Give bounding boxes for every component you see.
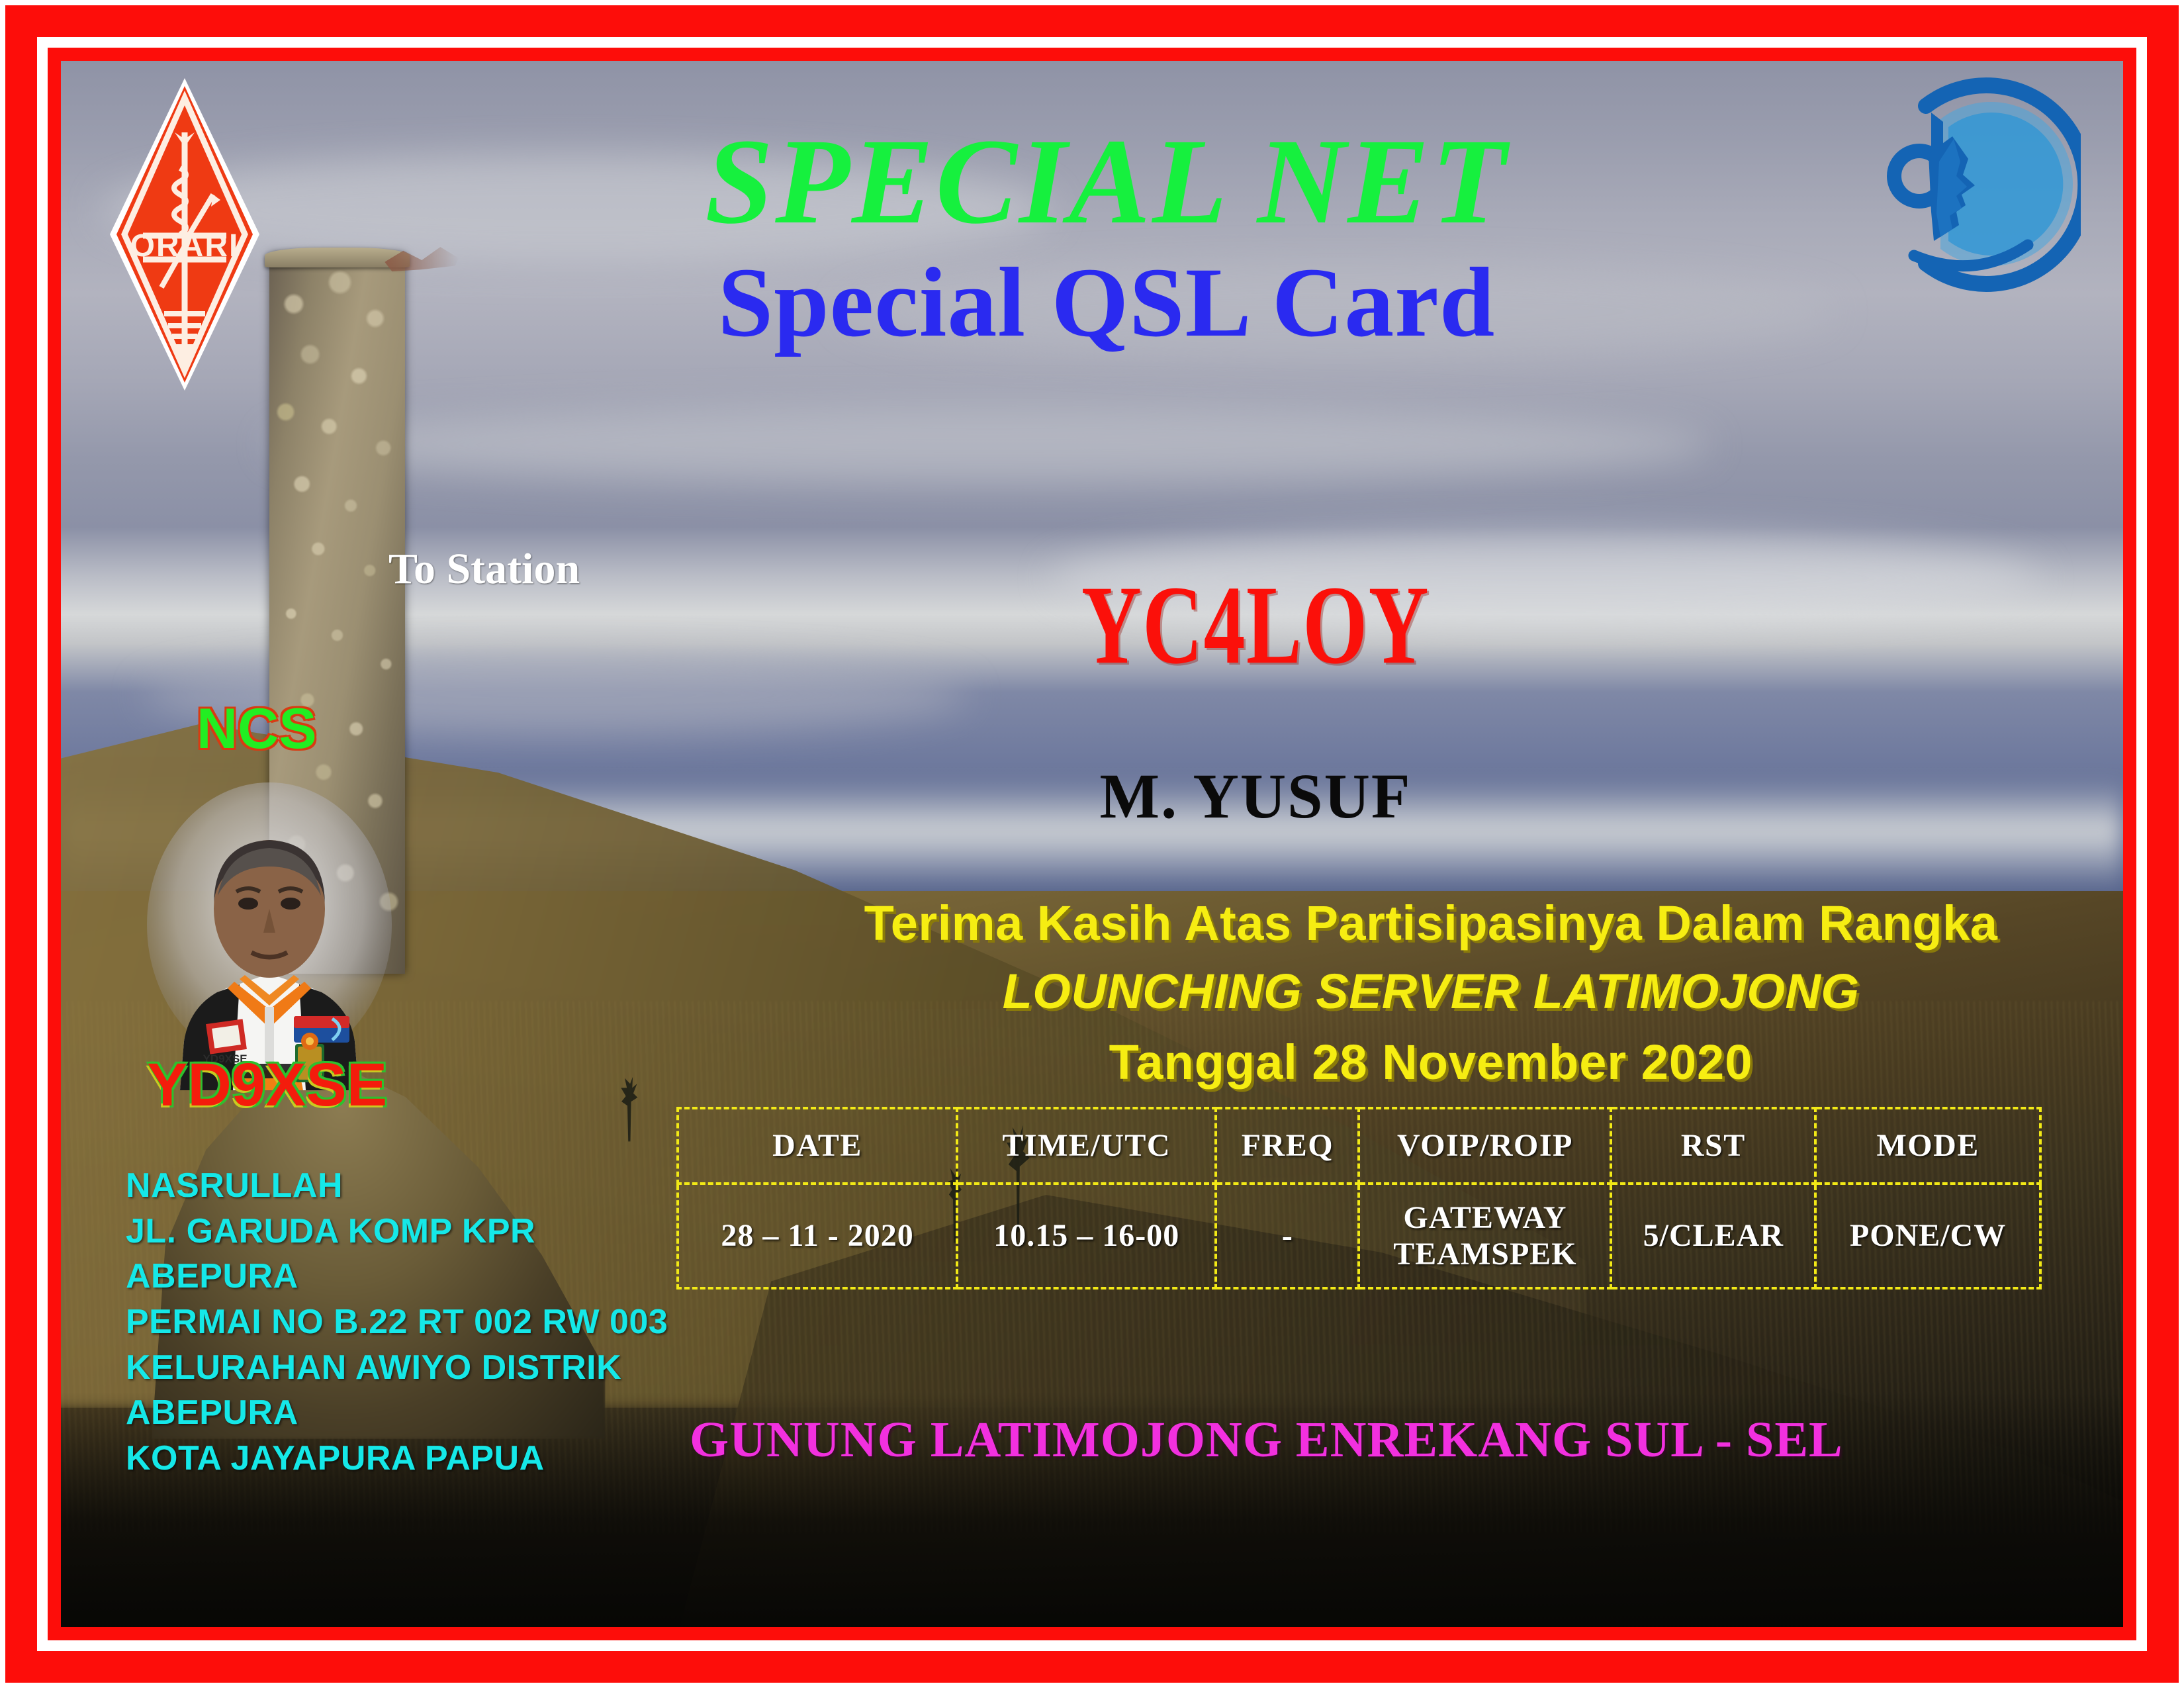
orari-logo-text: ORARI bbox=[130, 228, 240, 263]
subtitle: Special QSL Card bbox=[524, 253, 1689, 352]
web-address: Address : amatir.latimojong.com bbox=[1305, 1626, 2065, 1627]
column-header-date: DATE bbox=[678, 1108, 957, 1184]
mailing-address: NASRULLAH JL. GARUDA KOMP KPR ABEPURA PE… bbox=[126, 1163, 668, 1481]
address-line: NASRULLAH bbox=[126, 1163, 668, 1209]
station-callsign: YC4LOY bbox=[1048, 561, 1464, 690]
address-line: ABEPURA bbox=[126, 1254, 668, 1299]
address-line: PERMAI NO B.22 RT 002 RW 003 bbox=[126, 1299, 668, 1345]
ncs-callsign: YD9XSE bbox=[147, 1051, 387, 1120]
address-line: KOTA JAYAPURA PAPUA bbox=[126, 1436, 668, 1481]
column-header-mode: MODE bbox=[1815, 1108, 2040, 1184]
cell-freq: - bbox=[1216, 1184, 1359, 1288]
address-line: ABEPURA bbox=[126, 1390, 668, 1436]
column-header-rst: RST bbox=[1611, 1108, 1815, 1184]
background-photograph: ORARI bbox=[61, 61, 2123, 1627]
page-title: SPECIAL NET bbox=[524, 120, 1689, 243]
to-station-label: To Station bbox=[388, 544, 580, 594]
address-line: KELURAHAN AWIYO DISTRIK bbox=[126, 1345, 668, 1391]
table-header-row: DATE TIME/UTC FREQ VOIP/ROIP RST MODE bbox=[678, 1108, 2040, 1184]
address-line: JL. GARUDA KOMP KPR bbox=[126, 1209, 668, 1254]
location-caption: GUNUNG LATIMOJONG ENREKANG SUL - SEL bbox=[690, 1411, 1843, 1469]
cell-voip: GATEWAY TEAMSPEK bbox=[1359, 1184, 1611, 1288]
headset-profile-logo bbox=[1862, 75, 2081, 294]
thanks-line-3: Tanggal 28 November 2020 bbox=[782, 1034, 2079, 1090]
cell-rst: 5/CLEAR bbox=[1611, 1184, 1815, 1288]
column-header-voip: VOIP/ROIP bbox=[1359, 1108, 1611, 1184]
table-row: 28 – 11 - 2020 10.15 – 16-00 - GATEWAY T… bbox=[678, 1184, 2040, 1288]
qsl-card: ORARI bbox=[0, 0, 2184, 1688]
cell-time: 10.15 – 16-00 bbox=[957, 1184, 1216, 1288]
slogan-text: "AMATIR RADIO ADALAH PROGRESIVE" bbox=[140, 1626, 1159, 1627]
thanks-line-1: Terima Kasih Atas Partisipasinya Dalam R… bbox=[782, 895, 2079, 951]
cell-date: 28 – 11 - 2020 bbox=[678, 1184, 957, 1288]
ncs-label: NCS bbox=[197, 696, 317, 762]
thanks-line-2: LOUNCHING SERVER LATIMOJONG bbox=[782, 963, 2079, 1019]
ncs-operator-photo: YD9XSE bbox=[140, 779, 398, 1090]
operator-name: M. YUSUF bbox=[974, 759, 1537, 833]
cell-mode: PONE/CW bbox=[1815, 1184, 2040, 1288]
orari-logo: ORARI bbox=[95, 69, 274, 400]
column-header-time: TIME/UTC bbox=[957, 1108, 1216, 1184]
column-header-freq: FREQ bbox=[1216, 1108, 1359, 1184]
qso-log-table: DATE TIME/UTC FREQ VOIP/ROIP RST MODE 28… bbox=[676, 1107, 2042, 1289]
